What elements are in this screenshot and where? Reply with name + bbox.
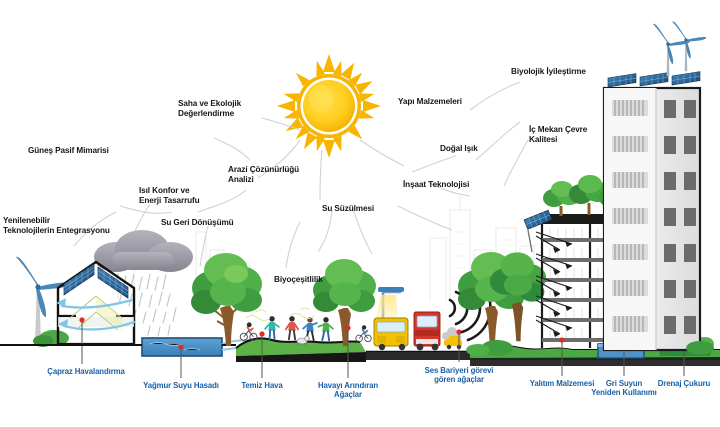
label-su-suzulmesi: Su Süzülmesi — [322, 204, 374, 214]
label-dogal-isik: Doğal Işık — [440, 144, 478, 154]
air-particles — [246, 308, 314, 321]
wind-turbine-icon — [653, 21, 706, 76]
tree-icon — [313, 259, 376, 346]
house-cross-section — [56, 262, 134, 364]
label-arazi-cozunurlugu-analizi: Arazi Çözünürlüğü Analizi — [228, 165, 299, 184]
label-yenilenebilir-teknolojiler: Yenilenebilir Teknolojilerin Entegrasyon… — [3, 216, 110, 235]
solar-panel-icon — [608, 72, 700, 87]
label-gunes-pasif-mimarisi: Güneş Pasif Mimarisi — [28, 146, 109, 156]
infographic-canvas: Güneş Pasif MimarisiYenilenebilir Teknol… — [0, 0, 720, 427]
label-biyocesitlilik: Biyoçeşitlilik — [274, 275, 323, 285]
tree-icon — [191, 253, 262, 346]
bus-icon — [374, 318, 408, 350]
cyclist-icon — [240, 322, 257, 340]
label-su-geri-donusumu: Su Geri Dönüşümü — [161, 218, 234, 228]
label-yapi-malzemeleri: Yapı Malzemeleri — [398, 97, 462, 107]
person-icon — [286, 316, 298, 339]
label-insaat-teknolojisi: İnşaat Teknolojisi — [403, 180, 469, 190]
label-capraz-havalandirma: Çapraz Havalandırma — [16, 367, 156, 376]
sun-icon — [277, 54, 381, 158]
label-saha-ve-ekolojik-degerlendirme: Saha ve Ekolojik Değerlendirme — [178, 99, 241, 118]
label-isil-konfor: Isıl Konfor ve Enerji Tasarrufu — [139, 186, 200, 205]
label-drenaj-cukuru: Drenaj Çukuru — [614, 379, 720, 388]
cyclist-icon — [356, 325, 371, 342]
label-biyolojik-iyilestirme: Biyolojik İyileştirme — [511, 67, 586, 77]
solar-panel-icon — [524, 210, 552, 229]
person-icon — [319, 317, 333, 340]
label-ic-mekan-cevre-kalitesi: İç Mekan Çevre Kalitesi — [529, 125, 587, 144]
apartment-tower — [604, 21, 706, 350]
